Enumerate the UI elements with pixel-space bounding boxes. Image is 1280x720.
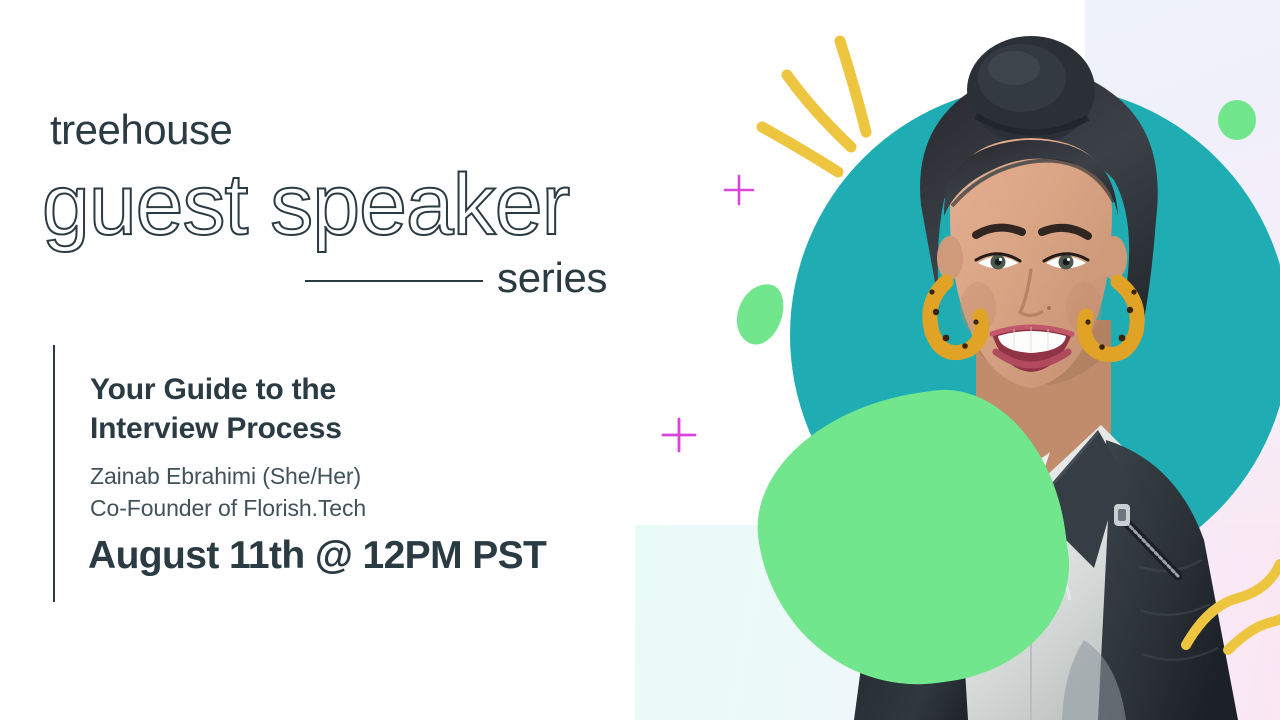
speaker-announcement-slide: treehouse guest speaker series Your Guid… xyxy=(0,0,1280,720)
green-dot-bottom xyxy=(938,585,1006,650)
plus-mark-icon xyxy=(725,176,753,204)
talk-title: Your Guide to the Interview Process xyxy=(90,370,560,448)
series-divider-rule xyxy=(305,280,483,282)
talk-title-line-2: Interview Process xyxy=(90,409,560,448)
speaker-role: Co-Founder of Florish.Tech xyxy=(90,493,560,525)
brand-wordmark: treehouse xyxy=(50,106,232,154)
speaker-details: Zainab Ebrahimi (She/Her) Co-Founder of … xyxy=(90,461,560,524)
headline-outline-text: guest speaker xyxy=(42,156,569,255)
vertical-divider-rule xyxy=(53,345,55,602)
talk-title-line-1: Your Guide to the xyxy=(90,370,560,409)
series-label: series xyxy=(497,254,607,302)
event-datetime: August 11th @ 12PM PST xyxy=(88,534,546,578)
speaker-name: Zainab Ebrahimi (She/Her) xyxy=(90,461,560,493)
green-blob-small-left xyxy=(731,279,789,350)
plus-mark-icon xyxy=(663,419,695,451)
